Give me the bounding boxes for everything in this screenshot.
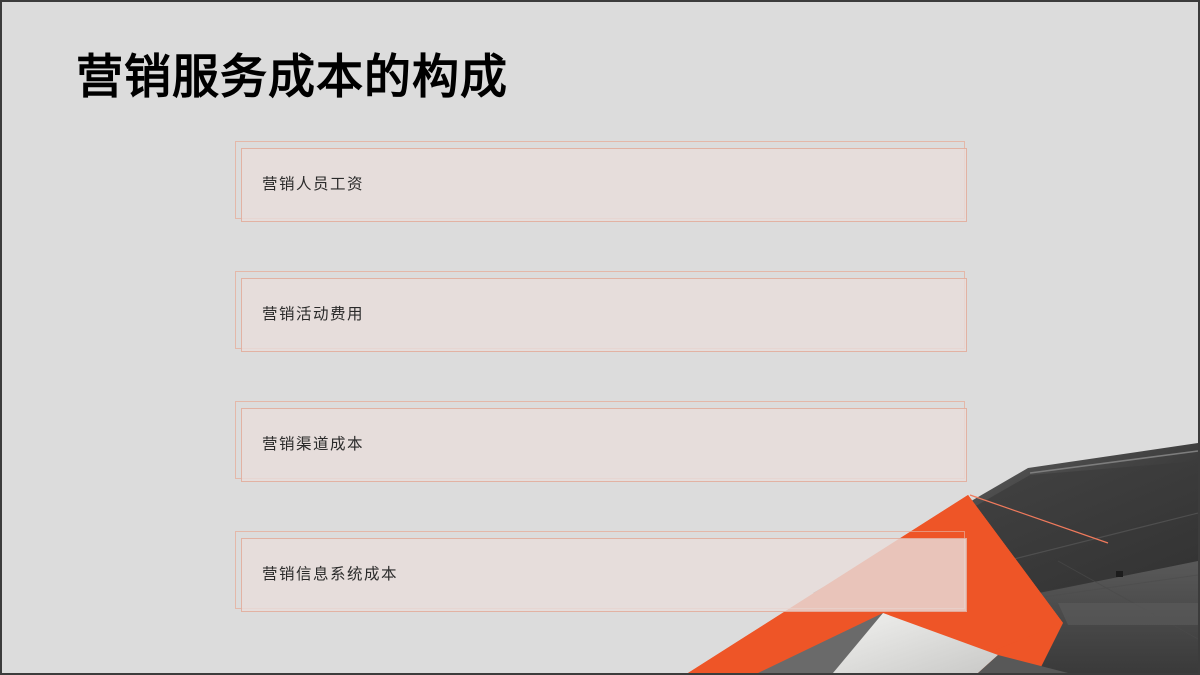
concrete-shadow-right — [978, 655, 1068, 673]
page-title: 营销服务成本的构成 — [76, 50, 508, 104]
cost-item-label: 营销人员工资 — [262, 177, 364, 193]
roof-edge-line — [1030, 451, 1198, 473]
cost-item-3[interactable]: 营销渠道成本 — [235, 401, 973, 487]
orange-hairline — [970, 495, 1108, 543]
cost-item-label: 营销活动费用 — [262, 307, 364, 323]
cost-item-panel[interactable]: 营销信息系统成本 — [241, 538, 967, 612]
cost-item-panel[interactable]: 营销渠道成本 — [241, 408, 967, 482]
cost-item-panel[interactable]: 营销人员工资 — [241, 148, 967, 222]
cost-item-panel[interactable]: 营销活动费用 — [241, 278, 967, 352]
concrete-wedge — [823, 613, 998, 673]
facade-detail — [1116, 571, 1123, 577]
concrete-shadow-left — [758, 613, 883, 673]
cost-item-2[interactable]: 营销活动费用 — [235, 271, 973, 357]
facade-line-1 — [1058, 561, 1198, 639]
cost-item-1[interactable]: 营销人员工资 — [235, 141, 973, 227]
presentation-slide: 营销服务成本的构成 营销人员工资 营销活动费用 营销渠道成本 营销信息系统成本 — [0, 0, 1200, 675]
cost-item-label: 营销信息系统成本 — [262, 567, 398, 583]
cost-item-label: 营销渠道成本 — [262, 437, 364, 453]
cost-item-4[interactable]: 营销信息系统成本 — [235, 531, 973, 617]
facade-band — [1058, 603, 1198, 625]
